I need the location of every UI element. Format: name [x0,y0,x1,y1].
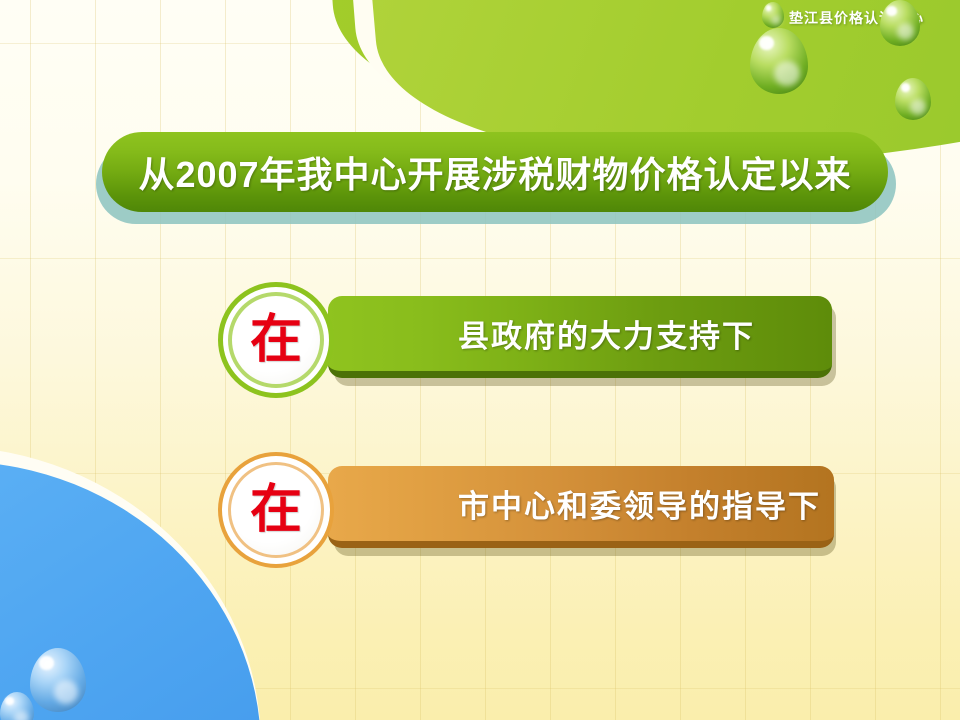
slide-title-banner: 从2007年我中心开展涉税财物价格认定以来 [96,132,896,224]
header-organization-label: 垫江县价格认证中心 [789,8,924,28]
content-row-1-bar: 县政府的大力支持下 [328,296,832,378]
content-row-2-badge-char: 在 [250,484,302,536]
content-row-1-label: 县政府的大力支持下 [458,311,755,356]
content-row-1: 县政府的大力支持下 在 [218,282,838,392]
content-row-1-badge-inner: 在 [228,292,324,388]
content-row-2-label: 市中心和委领导的指导下 [458,481,821,526]
presentation-slide: 垫江县价格认证中心 从2007年我中心开展涉税财物价格认定以来 县政府的大力支持… [0,0,960,720]
slide-title-pill: 从2007年我中心开展涉税财物价格认定以来 [102,132,888,212]
content-row-1-badge: 在 [218,282,334,398]
content-row-2-badge: 在 [218,452,334,568]
content-row-2-bar: 市中心和委领导的指导下 [328,466,834,548]
content-row-2-badge-inner: 在 [228,462,324,558]
content-row-1-badge-char: 在 [250,314,302,366]
content-row-2: 市中心和委领导的指导下 在 [218,452,838,562]
slide-title-text: 从2007年我中心开展涉税财物价格认定以来 [138,146,851,198]
